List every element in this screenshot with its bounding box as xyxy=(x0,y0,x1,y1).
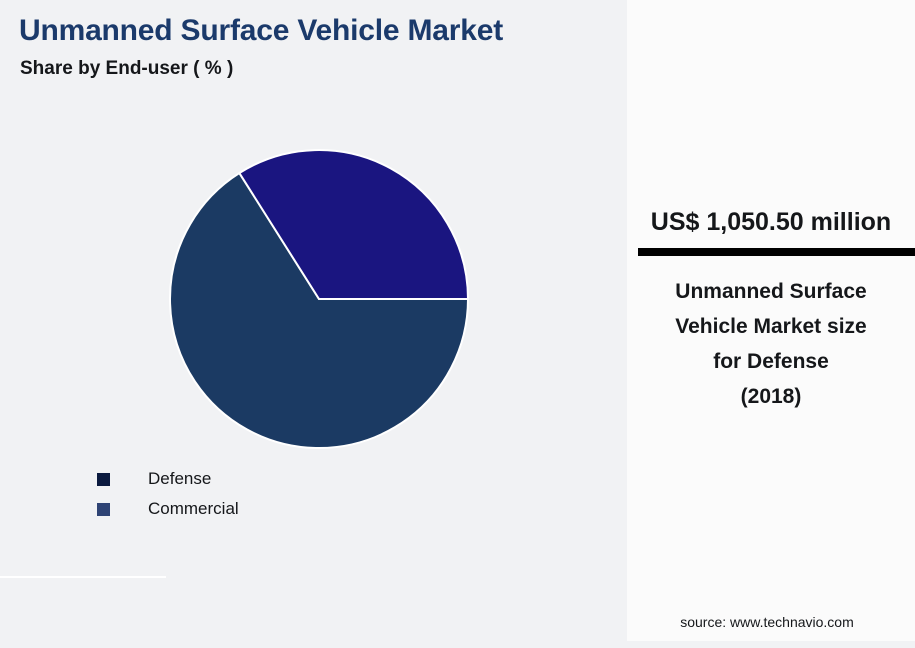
kpi-divider xyxy=(638,248,915,256)
legend-label-defense: Defense xyxy=(148,469,211,489)
kpi-caption-line: for Defense xyxy=(646,344,896,379)
kpi-caption-line: Vehicle Market size xyxy=(646,309,896,344)
pie-chart xyxy=(160,141,478,459)
chart-canvas: Unmanned Surface Vehicle Market Share by… xyxy=(0,0,915,648)
page-title: Unmanned Surface Vehicle Market xyxy=(19,14,503,48)
source-note: source: www.technavio.com xyxy=(627,614,915,630)
footer-divider xyxy=(0,576,166,578)
chart-panel: Unmanned Surface Vehicle Market Share by… xyxy=(0,0,620,648)
legend-item-defense[interactable]: Defense xyxy=(97,464,239,494)
pie-chart-svg xyxy=(160,141,478,459)
legend-label-commercial: Commercial xyxy=(148,499,239,519)
legend-swatch-icon xyxy=(97,473,110,486)
panel-bottom-strip xyxy=(627,641,915,648)
kpi-panel: US$ 1,050.50 million Unmanned Surface Ve… xyxy=(627,0,915,641)
chart-legend: Defense Commercial xyxy=(97,464,239,524)
kpi-caption-line: Unmanned Surface xyxy=(646,274,896,309)
chart-subtitle: Share by End-user ( % ) xyxy=(20,58,233,80)
kpi-caption: Unmanned Surface Vehicle Market size for… xyxy=(646,274,896,414)
legend-swatch-icon xyxy=(97,503,110,516)
legend-item-commercial[interactable]: Commercial xyxy=(97,494,239,524)
kpi-caption-line: (2018) xyxy=(646,379,896,414)
kpi-value: US$ 1,050.50 million xyxy=(627,208,915,237)
